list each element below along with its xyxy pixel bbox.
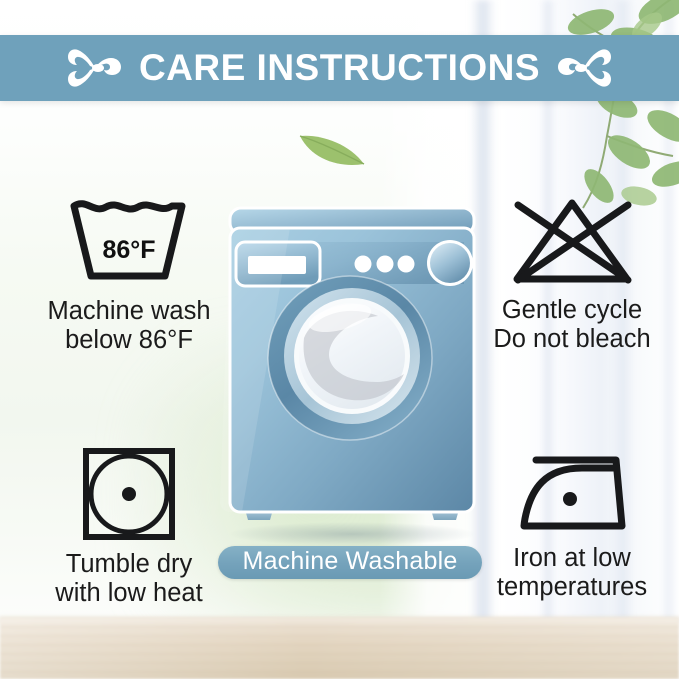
floating-leaf-icon (296, 124, 368, 172)
header-banner: CARE INSTRUCTIONS (0, 35, 679, 101)
icon-wrap (472, 446, 672, 536)
washing-machine-illustration (218, 206, 486, 546)
care-caption-line2: temperatures (472, 573, 672, 602)
icon-wrap (16, 446, 242, 542)
care-caption: Tumble dry with low heat (16, 550, 242, 608)
care-caption-line2: below 86°F (16, 326, 242, 355)
care-caption: Machine wash below 86°F (16, 297, 242, 355)
control-indicator-dot[interactable] (355, 256, 372, 273)
care-caption-line1: Tumble dry (66, 550, 193, 578)
care-instructions-infographic: CARE INSTRUCTIONS 86°F Machine wash belo… (0, 0, 679, 679)
care-caption-line1: Gentle cycle (502, 296, 642, 324)
wood-table-surface (0, 617, 679, 679)
care-item-iron-low: Iron at low temperatures (472, 446, 672, 602)
care-caption: Iron at low temperatures (472, 544, 672, 602)
care-caption-line1: Machine wash (48, 297, 211, 325)
machine-washable-badge-label: Machine Washable (243, 549, 458, 574)
plant-branch-icon (487, 0, 679, 216)
machine-washable-badge: Machine Washable (218, 546, 482, 579)
wash-temperature-value: 86°F (64, 236, 194, 265)
care-caption-line2: with low heat (16, 579, 242, 608)
iron-low-temperature-icon (512, 446, 632, 536)
tumble-dry-low-icon (81, 446, 177, 542)
icon-wrap (472, 196, 672, 288)
control-knob[interactable] (430, 243, 470, 283)
icon-wrap: 86°F (16, 196, 242, 289)
control-indicator-dot[interactable] (377, 256, 394, 273)
care-caption-line1: Iron at low (513, 544, 631, 572)
do-not-bleach-triangle-icon (508, 196, 636, 288)
page-title: CARE INSTRUCTIONS (139, 49, 540, 86)
care-item-machine-wash: 86°F Machine wash below 86°F (16, 196, 242, 355)
control-indicator-dot[interactable] (398, 256, 415, 273)
care-item-tumble-dry-low: Tumble dry with low heat (16, 446, 242, 608)
care-caption-line2: Do not bleach (472, 325, 672, 354)
care-caption: Gentle cycle Do not bleach (472, 296, 672, 354)
care-item-gentle-cycle-no-bleach: Gentle cycle Do not bleach (472, 196, 672, 354)
machine-shadow (228, 522, 476, 546)
fleur-de-lis-icon (558, 45, 614, 91)
fleur-de-lis-icon (65, 45, 121, 91)
